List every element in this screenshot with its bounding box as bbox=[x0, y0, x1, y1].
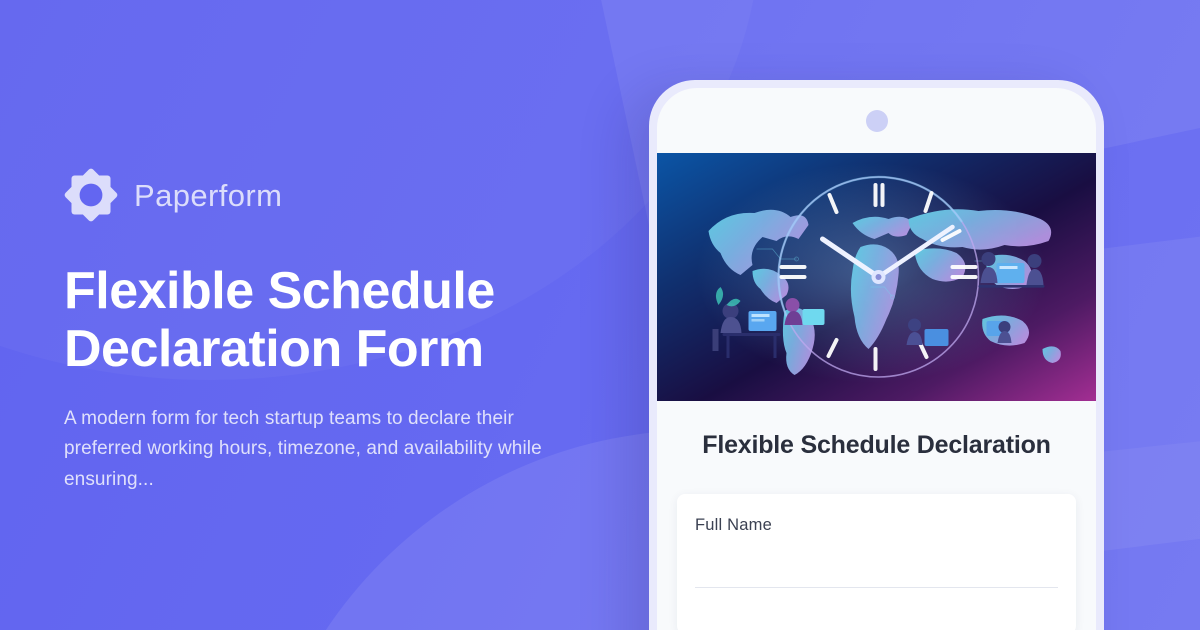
phone-mockup: Flexible Schedule Declaration Full Name bbox=[649, 80, 1104, 630]
form-cover-illustration bbox=[657, 153, 1096, 401]
brand-lockup: Paperform bbox=[64, 168, 604, 222]
brand-name: Paperform bbox=[134, 180, 282, 211]
promo-banner: Paperform Flexible Schedule Declaration … bbox=[0, 0, 1200, 630]
world-clock-illustration bbox=[657, 153, 1096, 401]
form-field-card: Full Name bbox=[677, 494, 1076, 630]
hero-description: A modern form for tech startup teams to … bbox=[64, 404, 564, 494]
camera-dot-icon bbox=[866, 110, 888, 132]
phone-top-bar bbox=[657, 88, 1096, 153]
phone-screen: Flexible Schedule Declaration Full Name bbox=[657, 88, 1096, 630]
full-name-input[interactable] bbox=[695, 587, 1058, 588]
full-name-label: Full Name bbox=[695, 516, 1058, 535]
paperform-logo-icon bbox=[64, 168, 118, 222]
hero-content: Paperform Flexible Schedule Declaration … bbox=[64, 168, 604, 495]
form-title: Flexible Schedule Declaration bbox=[695, 429, 1058, 462]
page-title: Flexible Schedule Declaration Form bbox=[64, 262, 534, 378]
